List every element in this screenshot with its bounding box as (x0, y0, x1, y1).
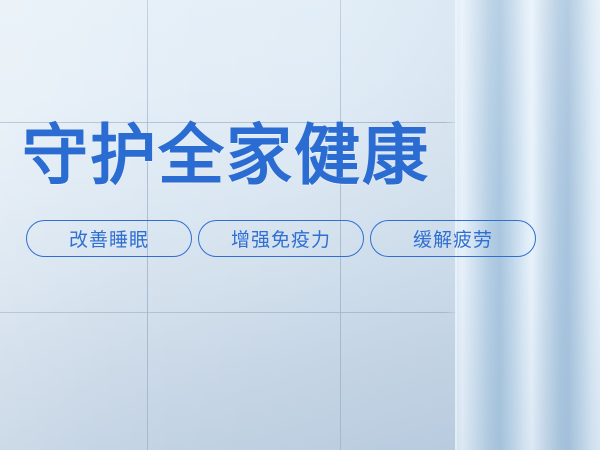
banner-headline: 守护全家健康 (22, 118, 430, 192)
banner-content: 守护全家健康 改善睡眠 增强免疫力 缓解疲劳 (0, 0, 600, 450)
promo-banner: 守护全家健康 改善睡眠 增强免疫力 缓解疲劳 (0, 0, 600, 450)
feature-tag-boost-immunity[interactable]: 增强免疫力 (198, 220, 364, 257)
feature-tag-relieve-fatigue[interactable]: 缓解疲劳 (370, 220, 536, 257)
feature-tag-list: 改善睡眠 增强免疫力 缓解疲劳 (26, 220, 536, 257)
feature-tag-improve-sleep[interactable]: 改善睡眠 (26, 220, 192, 257)
